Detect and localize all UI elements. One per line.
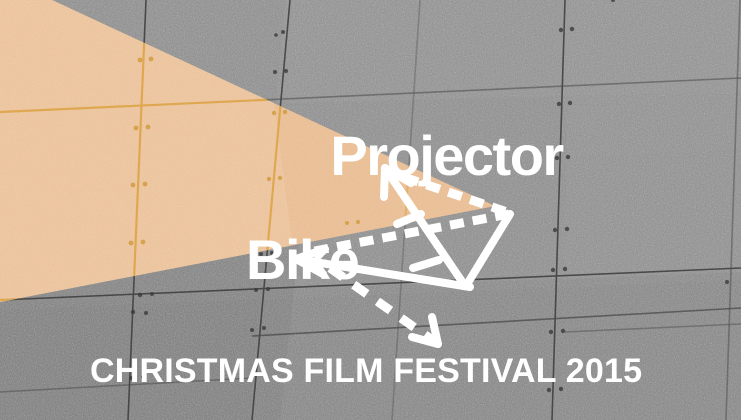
poster-canvas: Projector Bike CHRISTMAS FILM FESTIVAL 2…	[0, 0, 741, 420]
poster-artwork	[0, 0, 741, 420]
